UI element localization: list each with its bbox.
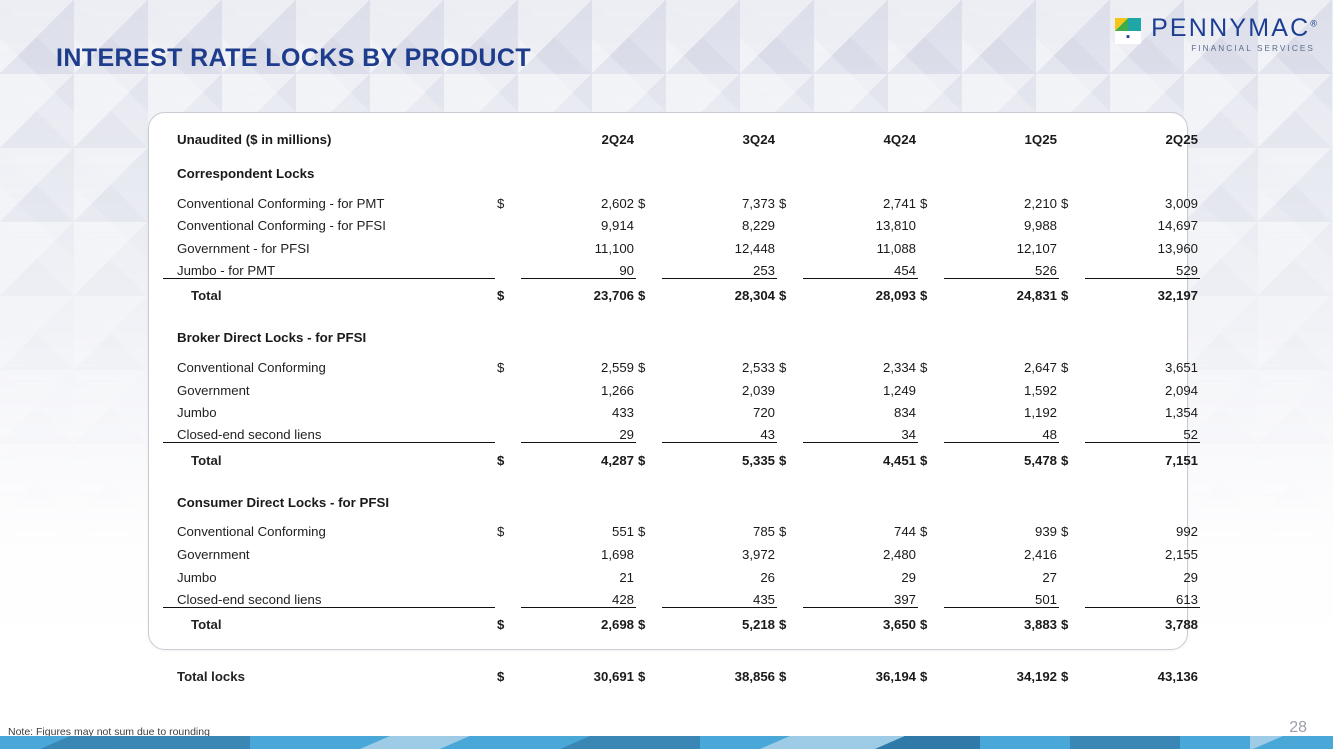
currency-symbol: $	[636, 352, 662, 375]
table-cell-value: 21	[521, 562, 636, 585]
currency-symbol: $	[495, 607, 521, 632]
slide: PENNYMAC® FINANCIAL SERVICES INTEREST RA…	[0, 0, 1333, 749]
table-cell-value: 90	[521, 256, 636, 279]
spacer	[163, 468, 1200, 485]
currency-symbol: $	[1059, 607, 1085, 632]
currency-symbol	[636, 233, 662, 256]
table-row: Jumbo - for PMT90253454526529	[163, 256, 1200, 279]
currency-symbol	[495, 375, 521, 398]
table-cell-value: 785	[662, 517, 777, 540]
currency-symbol: $	[495, 188, 521, 211]
table-cell-value: 526	[944, 256, 1059, 279]
table-cell-value: 428	[521, 585, 636, 608]
currency-symbol	[777, 420, 803, 443]
currency-symbol	[1059, 398, 1085, 421]
table-cell-value: 32,197	[1085, 278, 1200, 303]
table-row: Conventional Conforming$551$785$744$939$…	[163, 517, 1200, 540]
table-total-label: Total	[163, 278, 495, 303]
table-cell-value: 253	[662, 256, 777, 279]
currency-symbol: $	[636, 278, 662, 303]
table-cell-value: 3,788	[1085, 607, 1200, 632]
table-cell-value: 454	[803, 256, 918, 279]
table-grand-total-row: Total locks$30,691$38,856$36,194$34,192$…	[163, 654, 1200, 684]
pennymac-logo: PENNYMAC® FINANCIAL SERVICES	[1115, 16, 1317, 53]
table-row: Government1,6983,9722,4802,4162,155	[163, 539, 1200, 562]
table-cell-value: 4,451	[803, 443, 918, 468]
table-cell-value: 992	[1085, 517, 1200, 540]
table-cell-value: 1,354	[1085, 398, 1200, 421]
table-cell-value: 551	[521, 517, 636, 540]
table-cell-value: 3,650	[803, 607, 918, 632]
table-row-label: Government	[163, 539, 495, 562]
table-cell-value: 13,810	[803, 211, 918, 234]
currency-symbol: $	[777, 188, 803, 211]
currency-symbol: $	[1059, 278, 1085, 303]
currency-symbol: $	[636, 607, 662, 632]
table-cell-value: 2,559	[521, 352, 636, 375]
table-total-row: Total$4,287$5,335$4,451$5,478$7,151	[163, 443, 1200, 468]
currency-symbol	[918, 539, 944, 562]
bottom-decor-bar	[0, 736, 1333, 749]
table-cell-value: 13,960	[1085, 233, 1200, 256]
table-total-row: Total$23,706$28,304$28,093$24,831$32,197	[163, 278, 1200, 303]
table-cell-value: 3,883	[944, 607, 1059, 632]
table-grand-total-label: Total locks	[163, 654, 495, 684]
table-cell-value: 5,335	[662, 443, 777, 468]
table-cell-value: 2,094	[1085, 375, 1200, 398]
table-header-label: Unaudited ($ in millions)	[163, 125, 495, 156]
table-cell-value: 14,697	[1085, 211, 1200, 234]
currency-symbol: $	[918, 654, 944, 684]
currency-symbol: $	[918, 188, 944, 211]
table-header-period-1: 3Q24	[636, 125, 777, 156]
table-cell-value: 720	[662, 398, 777, 421]
currency-symbol	[636, 562, 662, 585]
table-total-label: Total	[163, 443, 495, 468]
table-section-title: Broker Direct Locks - for PFSI	[163, 320, 1200, 352]
table-row-label: Jumbo	[163, 398, 495, 421]
table-cell-value: 29	[803, 562, 918, 585]
currency-symbol: $	[777, 654, 803, 684]
table-cell-value: 43	[662, 420, 777, 443]
currency-symbol	[918, 585, 944, 608]
currency-symbol: $	[636, 517, 662, 540]
table-row: Government - for PFSI11,10012,44811,0881…	[163, 233, 1200, 256]
currency-symbol	[918, 398, 944, 421]
table-cell-value: 1,192	[944, 398, 1059, 421]
table-row: Closed-end second liens428435397501613	[163, 585, 1200, 608]
table-row: Conventional Conforming - for PFSI9,9148…	[163, 211, 1200, 234]
table-cell-value: 3,009	[1085, 188, 1200, 211]
table-row: Closed-end second liens2943344852	[163, 420, 1200, 443]
spacer	[163, 303, 1200, 320]
currency-symbol	[918, 211, 944, 234]
table-section-title: Consumer Direct Locks - for PFSI	[163, 485, 1200, 517]
table-row-label: Closed-end second liens	[163, 585, 495, 608]
table-cell-value: 30,691	[521, 654, 636, 684]
table-cell-value: 2,210	[944, 188, 1059, 211]
currency-symbol	[1059, 562, 1085, 585]
table-cell-value: 7,373	[662, 188, 777, 211]
table-cell-value: 613	[1085, 585, 1200, 608]
table-cell-value: 2,334	[803, 352, 918, 375]
table-cell-value: 3,651	[1085, 352, 1200, 375]
table-cell-value: 1,249	[803, 375, 918, 398]
table-cell-value: 11,100	[521, 233, 636, 256]
table-cell-value: 26	[662, 562, 777, 585]
table-row: Conventional Conforming$2,559$2,533$2,33…	[163, 352, 1200, 375]
table-row-label: Government	[163, 375, 495, 398]
currency-symbol: $	[1059, 654, 1085, 684]
table-cell-value: 2,647	[944, 352, 1059, 375]
currency-symbol	[636, 398, 662, 421]
table-cell-value: 501	[944, 585, 1059, 608]
table-cell-value: 3,972	[662, 539, 777, 562]
currency-symbol: $	[636, 443, 662, 468]
table-row-label: Conventional Conforming - for PMT	[163, 188, 495, 211]
currency-symbol: $	[495, 654, 521, 684]
currency-symbol	[1059, 256, 1085, 279]
table-cell-value: 27	[944, 562, 1059, 585]
currency-symbol	[1059, 420, 1085, 443]
table-cell-value: 397	[803, 585, 918, 608]
table-header-row: Unaudited ($ in millions) 2Q24 3Q24 4Q24…	[163, 125, 1200, 156]
currency-symbol: $	[918, 278, 944, 303]
currency-symbol: $	[636, 188, 662, 211]
currency-symbol: $	[1059, 443, 1085, 468]
table-row-label: Conventional Conforming	[163, 352, 495, 375]
currency-symbol	[636, 585, 662, 608]
table-cell-value: 5,478	[944, 443, 1059, 468]
currency-symbol: $	[777, 278, 803, 303]
currency-symbol	[636, 256, 662, 279]
currency-symbol	[777, 562, 803, 585]
currency-symbol	[777, 585, 803, 608]
currency-symbol	[777, 233, 803, 256]
currency-symbol	[777, 398, 803, 421]
table-row-label: Conventional Conforming - for PFSI	[163, 211, 495, 234]
currency-symbol	[1059, 539, 1085, 562]
table-head: Unaudited ($ in millions) 2Q24 3Q24 4Q24…	[163, 125, 1200, 156]
table-section-title: Correspondent Locks	[163, 156, 1200, 188]
currency-symbol: $	[918, 517, 944, 540]
table-cell-value: 2,741	[803, 188, 918, 211]
table-cell-value: 34,192	[944, 654, 1059, 684]
currency-symbol: $	[495, 443, 521, 468]
table-cell-value: 435	[662, 585, 777, 608]
currency-symbol: $	[777, 517, 803, 540]
currency-symbol	[495, 398, 521, 421]
currency-symbol	[918, 375, 944, 398]
table-total-label: Total	[163, 607, 495, 632]
currency-symbol: $	[777, 352, 803, 375]
currency-symbol	[636, 539, 662, 562]
table-cell-value: 8,229	[662, 211, 777, 234]
locks-table-card: Unaudited ($ in millions) 2Q24 3Q24 4Q24…	[148, 112, 1188, 650]
currency-symbol: $	[1059, 352, 1085, 375]
logo-trademark: ®	[1310, 19, 1317, 29]
table-row-label: Conventional Conforming	[163, 517, 495, 540]
table-header-period-2: 4Q24	[777, 125, 918, 156]
table-cell-value: 1,266	[521, 375, 636, 398]
table-cell-value: 29	[1085, 562, 1200, 585]
table-cell-value: 529	[1085, 256, 1200, 279]
table-cell-value: 7,151	[1085, 443, 1200, 468]
logo-tagline: FINANCIAL SERVICES	[1191, 44, 1315, 53]
table-cell-value: 5,218	[662, 607, 777, 632]
table-row-label: Jumbo - for PMT	[163, 256, 495, 279]
pennymac-logo-mark-icon	[1115, 18, 1141, 44]
currency-symbol: $	[495, 517, 521, 540]
currency-symbol	[777, 256, 803, 279]
table-cell-value: 433	[521, 398, 636, 421]
logo-wordmark: PENNYMAC®	[1151, 16, 1317, 41]
table-cell-value: 2,533	[662, 352, 777, 375]
currency-symbol	[1059, 211, 1085, 234]
currency-symbol: $	[918, 443, 944, 468]
table-row: Jumbo2126292729	[163, 562, 1200, 585]
table-row-label: Closed-end second liens	[163, 420, 495, 443]
table-cell-value: 1,698	[521, 539, 636, 562]
spacer	[163, 632, 1200, 654]
table-header-period-4: 2Q25	[1059, 125, 1200, 156]
table-cell-value: 834	[803, 398, 918, 421]
currency-symbol	[918, 233, 944, 256]
table-cell-value: 12,107	[944, 233, 1059, 256]
currency-symbol	[777, 375, 803, 398]
currency-symbol	[495, 539, 521, 562]
table-cell-value: 28,093	[803, 278, 918, 303]
currency-symbol	[636, 375, 662, 398]
table-cell-value: 29	[521, 420, 636, 443]
currency-symbol: $	[777, 443, 803, 468]
table-row-label: Government - for PFSI	[163, 233, 495, 256]
table-section-header: Broker Direct Locks - for PFSI	[163, 320, 1200, 352]
table-cell-value: 43,136	[1085, 654, 1200, 684]
currency-symbol: $	[1059, 517, 1085, 540]
logo-wordmark-text: PENNYMAC	[1151, 14, 1310, 42]
table-row: Conventional Conforming - for PMT$2,602$…	[163, 188, 1200, 211]
page-title: INTEREST RATE LOCKS BY PRODUCT	[56, 44, 531, 73]
table-row: Government1,2662,0391,2491,5922,094	[163, 375, 1200, 398]
table-cell-value: 2,416	[944, 539, 1059, 562]
currency-symbol: $	[1059, 188, 1085, 211]
table-header-period-0: 2Q24	[495, 125, 636, 156]
currency-symbol	[777, 539, 803, 562]
table-cell-value: 2,039	[662, 375, 777, 398]
table-cell-value: 2,480	[803, 539, 918, 562]
currency-symbol	[495, 256, 521, 279]
currency-symbol	[918, 562, 944, 585]
table-cell-value: 11,088	[803, 233, 918, 256]
currency-symbol: $	[636, 654, 662, 684]
table-body: Correspondent LocksConventional Conformi…	[163, 156, 1200, 684]
table-cell-value: 2,155	[1085, 539, 1200, 562]
currency-symbol	[777, 211, 803, 234]
table-cell-value: 744	[803, 517, 918, 540]
table-section-gap	[163, 303, 1200, 320]
table-section-header: Consumer Direct Locks - for PFSI	[163, 485, 1200, 517]
currency-symbol	[918, 420, 944, 443]
table-cell-value: 2,698	[521, 607, 636, 632]
currency-symbol	[495, 233, 521, 256]
table-row-label: Jumbo	[163, 562, 495, 585]
currency-symbol: $	[777, 607, 803, 632]
table-cell-value: 1,592	[944, 375, 1059, 398]
table-section-header: Correspondent Locks	[163, 156, 1200, 188]
currency-symbol	[1059, 375, 1085, 398]
table-section-gap	[163, 468, 1200, 485]
currency-symbol	[495, 211, 521, 234]
table-cell-value: 34	[803, 420, 918, 443]
currency-symbol	[636, 211, 662, 234]
currency-symbol	[636, 420, 662, 443]
table-cell-value: 9,914	[521, 211, 636, 234]
currency-symbol	[495, 420, 521, 443]
currency-symbol: $	[918, 352, 944, 375]
currency-symbol	[495, 562, 521, 585]
table-cell-value: 9,988	[944, 211, 1059, 234]
currency-symbol	[495, 585, 521, 608]
table-cell-value: 24,831	[944, 278, 1059, 303]
table-cell-value: 4,287	[521, 443, 636, 468]
currency-symbol	[1059, 585, 1085, 608]
currency-symbol: $	[495, 352, 521, 375]
table-cell-value: 2,602	[521, 188, 636, 211]
table-cell-value: 48	[944, 420, 1059, 443]
table-cell-value: 12,448	[662, 233, 777, 256]
table-row: Jumbo4337208341,1921,354	[163, 398, 1200, 421]
table-cell-value: 939	[944, 517, 1059, 540]
currency-symbol: $	[918, 607, 944, 632]
interest-rate-locks-table: Unaudited ($ in millions) 2Q24 3Q24 4Q24…	[163, 125, 1200, 684]
currency-symbol: $	[495, 278, 521, 303]
table-cell-value: 52	[1085, 420, 1200, 443]
table-cell-value: 23,706	[521, 278, 636, 303]
table-cell-value: 38,856	[662, 654, 777, 684]
table-grand-total-gap	[163, 632, 1200, 654]
table-header-period-3: 1Q25	[918, 125, 1059, 156]
currency-symbol	[918, 256, 944, 279]
page-number: 28	[1289, 719, 1307, 737]
table-cell-value: 36,194	[803, 654, 918, 684]
currency-symbol	[1059, 233, 1085, 256]
table-cell-value: 28,304	[662, 278, 777, 303]
table-total-row: Total$2,698$5,218$3,650$3,883$3,788	[163, 607, 1200, 632]
